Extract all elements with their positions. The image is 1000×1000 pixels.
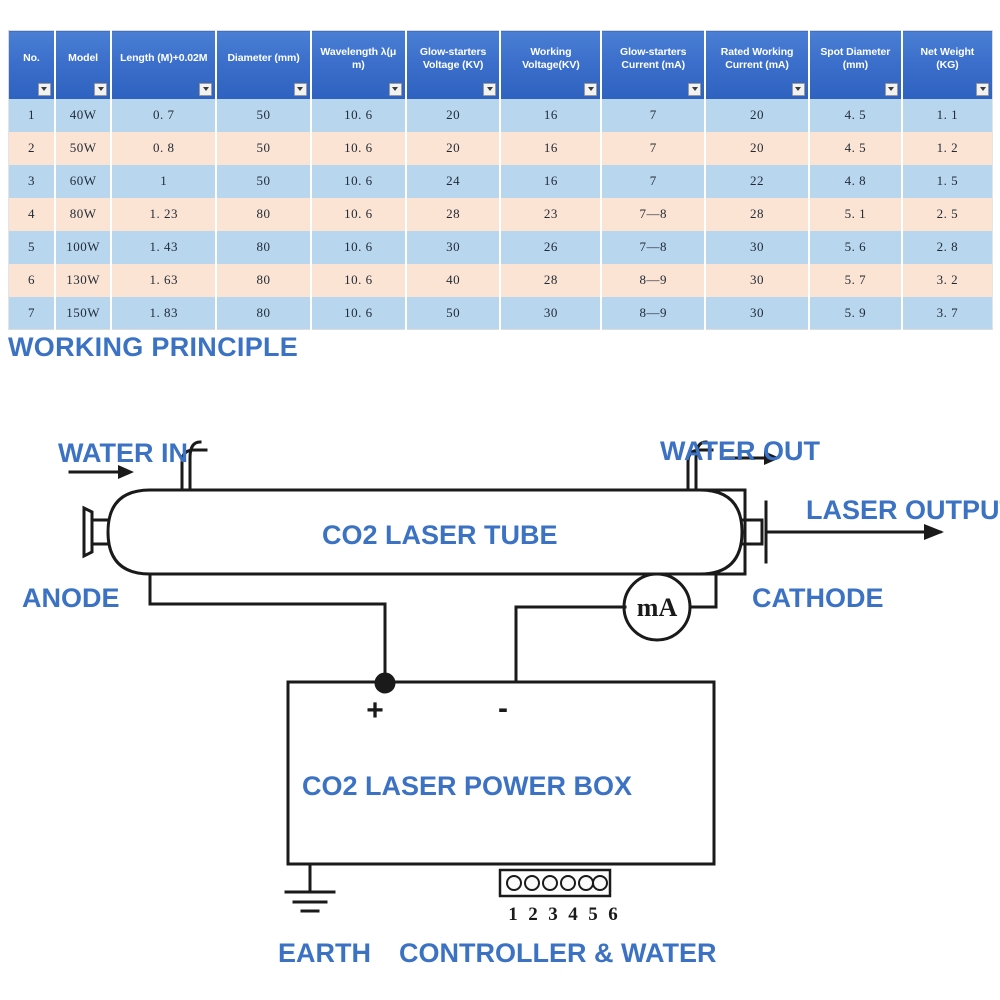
cell-glow-current: 7 (601, 99, 705, 132)
cell-no: 4 (9, 198, 55, 231)
cell-glow-current: 8—9 (601, 297, 705, 330)
filter-dropdown-icon[interactable] (483, 83, 496, 96)
cell-diameter: 50 (216, 165, 311, 198)
cell-net-weight: 2. 8 (902, 231, 993, 264)
cell-spot-diameter: 5. 6 (809, 231, 902, 264)
cell-working-voltage: 26 (500, 231, 601, 264)
column-header-working-voltage[interactable]: Working Voltage(KV) (500, 31, 601, 99)
cell-glow-current: 7—8 (601, 231, 705, 264)
table-header: No. Model Length (M)+0.02M Diameter (mm) (9, 31, 993, 99)
column-header-label: Diameter (mm) (227, 52, 299, 64)
cell-no: 6 (9, 264, 55, 297)
cell-length: 1 (111, 165, 216, 198)
specification-table-container: No. Model Length (M)+0.02M Diameter (mm) (8, 30, 993, 330)
cell-diameter: 80 (216, 297, 311, 330)
laser-output-arrow-head (924, 524, 944, 540)
cell-glow-current: 7 (601, 132, 705, 165)
cell-net-weight: 3. 2 (902, 264, 993, 297)
cell-diameter: 50 (216, 99, 311, 132)
anode-mirror (84, 508, 92, 556)
meter-wire-to-power-box (516, 607, 625, 682)
column-header-rated-working-current[interactable]: Rated Working Current (mA) (705, 31, 809, 99)
column-header-glow-starters-voltage[interactable]: Glow-starters Voltage (KV) (406, 31, 501, 99)
negative-terminal-label: - (498, 692, 508, 725)
label-water-in: WATER IN (58, 438, 188, 468)
column-header-label: Length (M)+0.02M (120, 52, 207, 64)
cell-diameter: 80 (216, 264, 311, 297)
column-header-label: Glow-starters (420, 46, 486, 58)
column-header-label: Spot Diameter (820, 46, 890, 58)
cell-working-voltage: 16 (500, 165, 601, 198)
cell-working-voltage: 16 (500, 99, 601, 132)
cell-length: 1. 83 (111, 297, 216, 330)
filter-dropdown-icon[interactable] (199, 83, 212, 96)
positive-terminal-label: + (366, 694, 384, 727)
cell-wavelength: 10. 6 (311, 264, 406, 297)
cell-glow-voltage: 20 (406, 99, 501, 132)
column-header-wavelength[interactable]: Wavelength λ(μ m) (311, 31, 406, 99)
filter-dropdown-icon[interactable] (294, 83, 307, 96)
label-anode: ANODE (22, 583, 120, 613)
cell-no: 3 (9, 165, 55, 198)
cell-length: 1. 23 (111, 198, 216, 231)
table-row: 480W1. 238010. 628237—8285. 12. 5 (9, 198, 993, 231)
cell-glow-voltage: 30 (406, 231, 501, 264)
cell-model: 100W (55, 231, 111, 264)
cell-glow-current: 7 (601, 165, 705, 198)
page-title: WORKING PRINCIPLE (8, 332, 298, 363)
working-principle-diagram: 1 2 3 4 5 6 mA + - WATER IN WATER OUT LA… (0, 392, 1000, 1000)
pin-number-6: 6 (608, 904, 618, 925)
cell-rated-current: 30 (705, 231, 809, 264)
cell-wavelength: 10. 6 (311, 99, 406, 132)
cell-length: 0. 7 (111, 99, 216, 132)
cell-working-voltage: 23 (500, 198, 601, 231)
table-row: 360W15010. 624167224. 81. 5 (9, 165, 993, 198)
column-header-length[interactable]: Length (M)+0.02M (111, 31, 216, 99)
column-header-glow-starters-current[interactable]: Glow-starters Current (mA) (601, 31, 705, 99)
cell-net-weight: 1. 2 (902, 132, 993, 165)
cell-wavelength: 10. 6 (311, 132, 406, 165)
column-header-model[interactable]: Model (55, 31, 111, 99)
cell-wavelength: 10. 6 (311, 198, 406, 231)
cell-model: 40W (55, 99, 111, 132)
table-row: 5100W1. 438010. 630267—8305. 62. 8 (9, 231, 993, 264)
cell-no: 2 (9, 132, 55, 165)
cathode-wire-to-meter (690, 574, 716, 607)
controller-pin-numbers: 1 2 3 4 5 6 (508, 904, 618, 925)
cell-working-voltage: 16 (500, 132, 601, 165)
table-row: 140W0. 75010. 620167204. 51. 1 (9, 99, 993, 132)
pin-number-3: 3 (548, 904, 558, 925)
cell-glow-current: 8—9 (601, 264, 705, 297)
column-header-label-line2: Voltage (KV) (423, 59, 483, 71)
column-header-spot-diameter[interactable]: Spot Diameter (mm) (809, 31, 902, 99)
column-header-label: Glow-starters (620, 46, 686, 58)
pin-number-4: 4 (568, 904, 578, 925)
pin-number-2: 2 (528, 904, 538, 925)
cell-rated-current: 30 (705, 264, 809, 297)
cell-glow-voltage: 24 (406, 165, 501, 198)
column-header-label: No. (23, 52, 40, 64)
cell-glow-voltage: 28 (406, 198, 501, 231)
diagram-svg: 1 2 3 4 5 6 mA + - WATER IN WATER OUT LA… (0, 392, 1000, 1000)
cell-spot-diameter: 5. 1 (809, 198, 902, 231)
label-cathode: CATHODE (752, 583, 884, 613)
cell-rated-current: 20 (705, 99, 809, 132)
cell-length: 1. 43 (111, 231, 216, 264)
table-row: 250W0. 85010. 620167204. 51. 2 (9, 132, 993, 165)
cell-spot-diameter: 4. 5 (809, 132, 902, 165)
cell-model: 130W (55, 264, 111, 297)
cell-no: 5 (9, 231, 55, 264)
cell-glow-voltage: 40 (406, 264, 501, 297)
cell-wavelength: 10. 6 (311, 231, 406, 264)
column-header-label-line2: Current (mA) (725, 59, 789, 71)
column-header-label: Working (530, 46, 571, 58)
cell-rated-current: 22 (705, 165, 809, 198)
laser-tube-right-end (700, 490, 742, 574)
cell-working-voltage: 30 (500, 297, 601, 330)
cell-rated-current: 28 (705, 198, 809, 231)
cell-spot-diameter: 5. 9 (809, 297, 902, 330)
cell-spot-diameter: 4. 8 (809, 165, 902, 198)
cell-spot-diameter: 4. 5 (809, 99, 902, 132)
cell-length: 0. 8 (111, 132, 216, 165)
column-header-label-line2: Current (mA) (621, 59, 685, 71)
cell-diameter: 50 (216, 132, 311, 165)
filter-dropdown-icon[interactable] (976, 83, 989, 96)
cell-model: 150W (55, 297, 111, 330)
specification-table: No. Model Length (M)+0.02M Diameter (mm) (8, 30, 993, 330)
cell-no: 1 (9, 99, 55, 132)
column-header-net-weight[interactable]: Net Weight (KG) (902, 31, 993, 99)
cell-net-weight: 2. 5 (902, 198, 993, 231)
page-root: No. Model Length (M)+0.02M Diameter (mm) (0, 0, 1000, 1000)
cell-wavelength: 10. 6 (311, 165, 406, 198)
cell-model: 50W (55, 132, 111, 165)
pin-number-1: 1 (508, 904, 518, 925)
cell-length: 1. 63 (111, 264, 216, 297)
cell-diameter: 80 (216, 198, 311, 231)
cell-rated-current: 30 (705, 297, 809, 330)
column-header-label: Net Weight (921, 46, 975, 58)
filter-dropdown-icon[interactable] (792, 83, 805, 96)
cell-glow-current: 7—8 (601, 198, 705, 231)
table-header-row: No. Model Length (M)+0.02M Diameter (mm) (9, 31, 993, 99)
column-header-no[interactable]: No. (9, 31, 55, 99)
cell-wavelength: 10. 6 (311, 297, 406, 330)
milliamp-meter-label: mA (637, 593, 678, 622)
controller-connector-pins (507, 876, 607, 890)
cell-diameter: 80 (216, 231, 311, 264)
filter-dropdown-icon[interactable] (389, 83, 402, 96)
filter-dropdown-icon[interactable] (885, 83, 898, 96)
table-body: 140W0. 75010. 620167204. 51. 1250W0. 850… (9, 99, 993, 330)
column-header-label: Wavelength λ(μ (320, 46, 396, 58)
filter-dropdown-icon[interactable] (38, 83, 51, 96)
table-row: 7150W1. 838010. 650308—9305. 93. 7 (9, 297, 993, 330)
column-header-label-line2: (KG) (936, 59, 958, 71)
cell-spot-diameter: 5. 7 (809, 264, 902, 297)
cell-net-weight: 1. 1 (902, 99, 993, 132)
cell-no: 7 (9, 297, 55, 330)
anode-stem (92, 520, 108, 544)
pin-number-5: 5 (588, 904, 598, 925)
label-co2-laser-tube: CO2 LASER TUBE (322, 520, 558, 550)
table-row: 6130W1. 638010. 640288—9305. 73. 2 (9, 264, 993, 297)
column-header-label: Model (68, 52, 98, 64)
column-header-diameter[interactable]: Diameter (mm) (216, 31, 311, 99)
label-earth: EARTH (278, 938, 371, 968)
filter-dropdown-icon[interactable] (688, 83, 701, 96)
label-controller-water: CONTROLLER & WATER (399, 938, 716, 968)
filter-dropdown-icon[interactable] (584, 83, 597, 96)
cell-model: 80W (55, 198, 111, 231)
cell-rated-current: 20 (705, 132, 809, 165)
column-header-label-line2: Voltage(KV) (522, 59, 580, 71)
label-laser-output: LASER OUTPUT (806, 495, 1000, 525)
cell-net-weight: 1. 5 (902, 165, 993, 198)
cell-net-weight: 3. 7 (902, 297, 993, 330)
column-header-label-line2: (mm) (843, 59, 868, 71)
column-header-label: Rated Working (721, 46, 794, 58)
cell-working-voltage: 28 (500, 264, 601, 297)
label-power-box: CO2 LASER POWER BOX (302, 771, 632, 801)
label-water-out: WATER OUT (660, 436, 820, 466)
cell-glow-voltage: 50 (406, 297, 501, 330)
anode-wire (150, 574, 385, 682)
cell-model: 60W (55, 165, 111, 198)
filter-dropdown-icon[interactable] (94, 83, 107, 96)
column-header-label-line2: m) (352, 59, 365, 71)
cell-glow-voltage: 20 (406, 132, 501, 165)
